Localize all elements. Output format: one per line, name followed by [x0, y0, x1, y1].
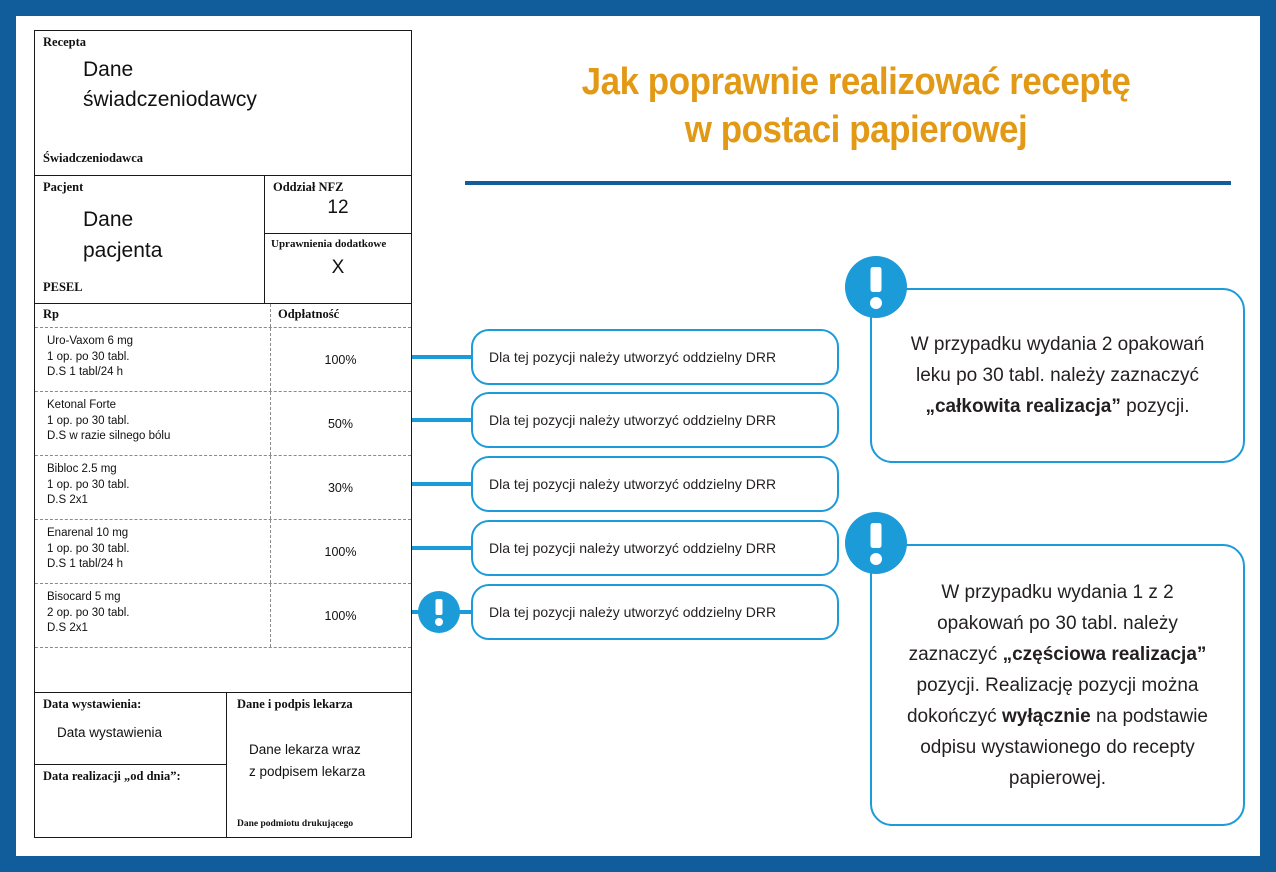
drr-callout[interactable]: Dla tej pozycji należy utworzyć oddzieln… [471, 456, 839, 512]
table-row: Bibloc 2.5 mg1 op. po 30 tabl.D.S 2x130% [35, 455, 411, 519]
title-line-2: w postaci papierowej [497, 106, 1215, 154]
provider-value: Daneświadczeniodawcy [83, 55, 257, 115]
prescription-form: Recepta Daneświadczeniodawcy Świadczenio… [34, 30, 412, 838]
exclamation-bar [871, 523, 882, 548]
table-empty-row [35, 647, 411, 695]
patient-section: Pacjent Danepacjenta PESEL Oddział NFZ 1… [35, 176, 411, 304]
info-note-text: W przypadku wydania 2 opakowań leku po 3… [872, 329, 1243, 422]
patient-value: Danepacjenta [83, 204, 162, 266]
recipe-label: Recepta [43, 35, 86, 50]
emphasis-text: „częściowa realizacja” [1003, 644, 1207, 665]
nfz-cell: Oddział NFZ 12 [265, 176, 411, 234]
footer-section: Data wystawienia: Data wystawienia Data … [35, 692, 411, 837]
drr-callout[interactable]: Dla tej pozycji należy utworzyć oddzieln… [471, 392, 839, 448]
table-row: Ketonal Forte1 op. po 30 tabl.D.S w razi… [35, 391, 411, 455]
table-row: Uro-Vaxom 6 mg1 op. po 30 tabl.D.S 1 tab… [35, 327, 411, 391]
drug-description: Bibloc 2.5 mg1 op. po 30 tabl.D.S 2x1 [47, 462, 129, 509]
payment-value: 100% [270, 353, 411, 367]
drug-description: Uro-Vaxom 6 mg1 op. po 30 tabl.D.S 1 tab… [47, 334, 133, 381]
doctor-value: Dane lekarza wrazz podpisem lekarza [249, 739, 365, 783]
emphasis-text: „całkowita realizacja” [925, 396, 1120, 417]
slide-canvas: Recepta Daneświadczeniodawcy Świadczenio… [16, 16, 1260, 856]
exclamation-icon [418, 591, 460, 633]
drr-callout-text: Dla tej pozycji należy utworzyć oddzieln… [473, 476, 776, 492]
drr-callout-text: Dla tej pozycji należy utworzyć oddzieln… [473, 604, 776, 620]
exclamation-dot [870, 553, 882, 565]
exclamation-bar [436, 599, 443, 615]
exclamation-icon [845, 256, 907, 318]
issue-date-label: Data wystawienia: [43, 697, 141, 712]
payment-value: 50% [270, 417, 411, 431]
exclamation-dot [435, 618, 443, 626]
payment-value: 100% [270, 609, 411, 623]
exclamation-bar [871, 267, 882, 292]
exclamation-dot [870, 297, 882, 309]
printer-label: Dane podmiotu drukującego [237, 819, 353, 829]
connector-line [412, 482, 471, 486]
table-header-row: Rp Odpłatność [35, 304, 411, 327]
realization-date-label: Data realizacji „od dnia”: [43, 769, 181, 784]
drr-callout-text: Dla tej pozycji należy utworzyć oddzieln… [473, 349, 776, 365]
drr-callout[interactable]: Dla tej pozycji należy utworzyć oddzieln… [471, 329, 839, 385]
table-row: Enarenal 10 mg1 op. po 30 tabl.D.S 1 tab… [35, 519, 411, 583]
nfz-value: 12 [265, 197, 411, 219]
issue-date-cell: Data wystawienia: Data wystawienia [35, 693, 226, 765]
provider-section: Recepta Daneświadczeniodawcy Świadczenio… [35, 31, 411, 176]
emphasis-text: wyłącznie [1002, 706, 1091, 727]
extra-rights-cell: Uprawnienia dodatkowe X [265, 234, 411, 303]
info-note: W przypadku wydania 2 opakowań leku po 3… [870, 288, 1245, 463]
page-title: Jak poprawnie realizować receptę w posta… [497, 58, 1215, 154]
extra-rights-value: X [265, 257, 411, 279]
realization-date-cell: Data realizacji „od dnia”: [35, 765, 226, 837]
table-row: Bisocard 5 mg2 op. po 30 tabl.D.S 2x1100… [35, 583, 411, 647]
connector-line [412, 355, 471, 359]
issue-date-value: Data wystawienia [57, 725, 162, 740]
footer-left: Data wystawienia: Data wystawienia Data … [35, 693, 227, 837]
drug-description: Bisocard 5 mg2 op. po 30 tabl.D.S 2x1 [47, 590, 129, 637]
provider-label: Świadczeniodawca [43, 151, 143, 166]
drr-callout-text: Dla tej pozycji należy utworzyć oddzieln… [473, 412, 776, 428]
column-divider [270, 304, 271, 327]
info-note: W przypadku wydania 1 z 2 opakowań po 30… [870, 544, 1245, 826]
drug-description: Ketonal Forte1 op. po 30 tabl.D.S w razi… [47, 398, 170, 445]
payment-value: 100% [270, 545, 411, 559]
plain-text: W przypadku wydania 2 opakowań leku po 3… [911, 334, 1205, 386]
payment-header: Odpłatność [278, 307, 339, 322]
doctor-label: Dane i podpis lekarza [237, 697, 353, 712]
title-line-1: Jak poprawnie realizować receptę [497, 58, 1215, 106]
info-note-text: W przypadku wydania 1 z 2 opakowań po 30… [872, 577, 1243, 794]
payment-value: 30% [270, 481, 411, 495]
patient-label: Pacjent [43, 180, 83, 195]
footer-right: Dane i podpis lekarza Dane lekarza wrazz… [227, 693, 411, 837]
drr-callout-text: Dla tej pozycji należy utworzyć oddzieln… [473, 540, 776, 556]
title-underline [465, 181, 1231, 185]
connector-line [412, 546, 471, 550]
drr-callout[interactable]: Dla tej pozycji należy utworzyć oddzieln… [471, 584, 839, 640]
drug-description: Enarenal 10 mg1 op. po 30 tabl.D.S 1 tab… [47, 526, 129, 573]
patient-left-cell: Pacjent Danepacjenta PESEL [35, 176, 265, 303]
drr-callout[interactable]: Dla tej pozycji należy utworzyć oddzieln… [471, 520, 839, 576]
rp-header: Rp [43, 307, 59, 322]
plain-text: pozycji. [1121, 396, 1190, 417]
nfz-label: Oddział NFZ [273, 180, 344, 195]
pesel-label: PESEL [43, 280, 83, 295]
connector-line [412, 418, 471, 422]
exclamation-icon [845, 512, 907, 574]
slide-background: Recepta Daneświadczeniodawcy Świadczenio… [0, 0, 1276, 872]
extra-rights-label: Uprawnienia dodatkowe [271, 238, 386, 250]
patient-right-cell: Oddział NFZ 12 Uprawnienia dodatkowe X [265, 176, 411, 303]
